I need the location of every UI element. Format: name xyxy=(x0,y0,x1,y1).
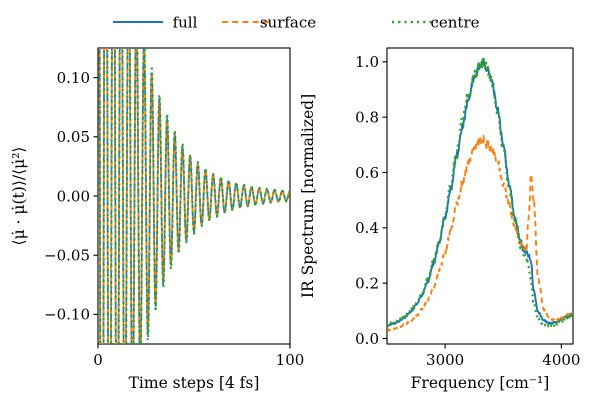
y-axis-label: IR Spectrum [normalized] xyxy=(299,94,317,298)
y-tick-label: 0.6 xyxy=(355,164,379,182)
x-tick-label: 100 xyxy=(276,351,305,369)
y-tick-label: 0.0 xyxy=(355,330,379,348)
y-tick-label: 0.8 xyxy=(355,108,379,126)
y-tick-label: 0.2 xyxy=(355,274,379,292)
legend-label-surface: surface xyxy=(260,14,316,32)
x-tick-label: 3000 xyxy=(426,351,464,369)
x-tick-label: 4000 xyxy=(542,351,580,369)
figure-canvas: fullsurfacecentre 0100−0.10−0.050.000.05… xyxy=(0,0,600,420)
y-tick-label: −0.10 xyxy=(44,306,90,324)
y-tick-label: 0.4 xyxy=(355,219,379,237)
x-axis-label: Time steps [4 fs] xyxy=(129,374,260,392)
y-tick-label: 0.00 xyxy=(57,187,90,205)
x-axis-label: Frequency [cm⁻¹] xyxy=(411,374,550,392)
y-axis-label: ⟨μ̇ · μ̇(t)⟩/⟨μ̇²⟩ xyxy=(10,147,28,246)
y-tick-label: 1.0 xyxy=(355,53,379,71)
x-tick-label: 0 xyxy=(93,351,103,369)
y-tick-label: 0.05 xyxy=(57,128,90,146)
figure-svg: fullsurfacecentre 0100−0.10−0.050.000.05… xyxy=(0,0,600,420)
legend-label-full: full xyxy=(173,14,198,32)
legend-label-centre: centre xyxy=(430,14,479,32)
y-tick-label: 0.10 xyxy=(57,69,90,87)
y-tick-label: −0.05 xyxy=(44,247,90,265)
